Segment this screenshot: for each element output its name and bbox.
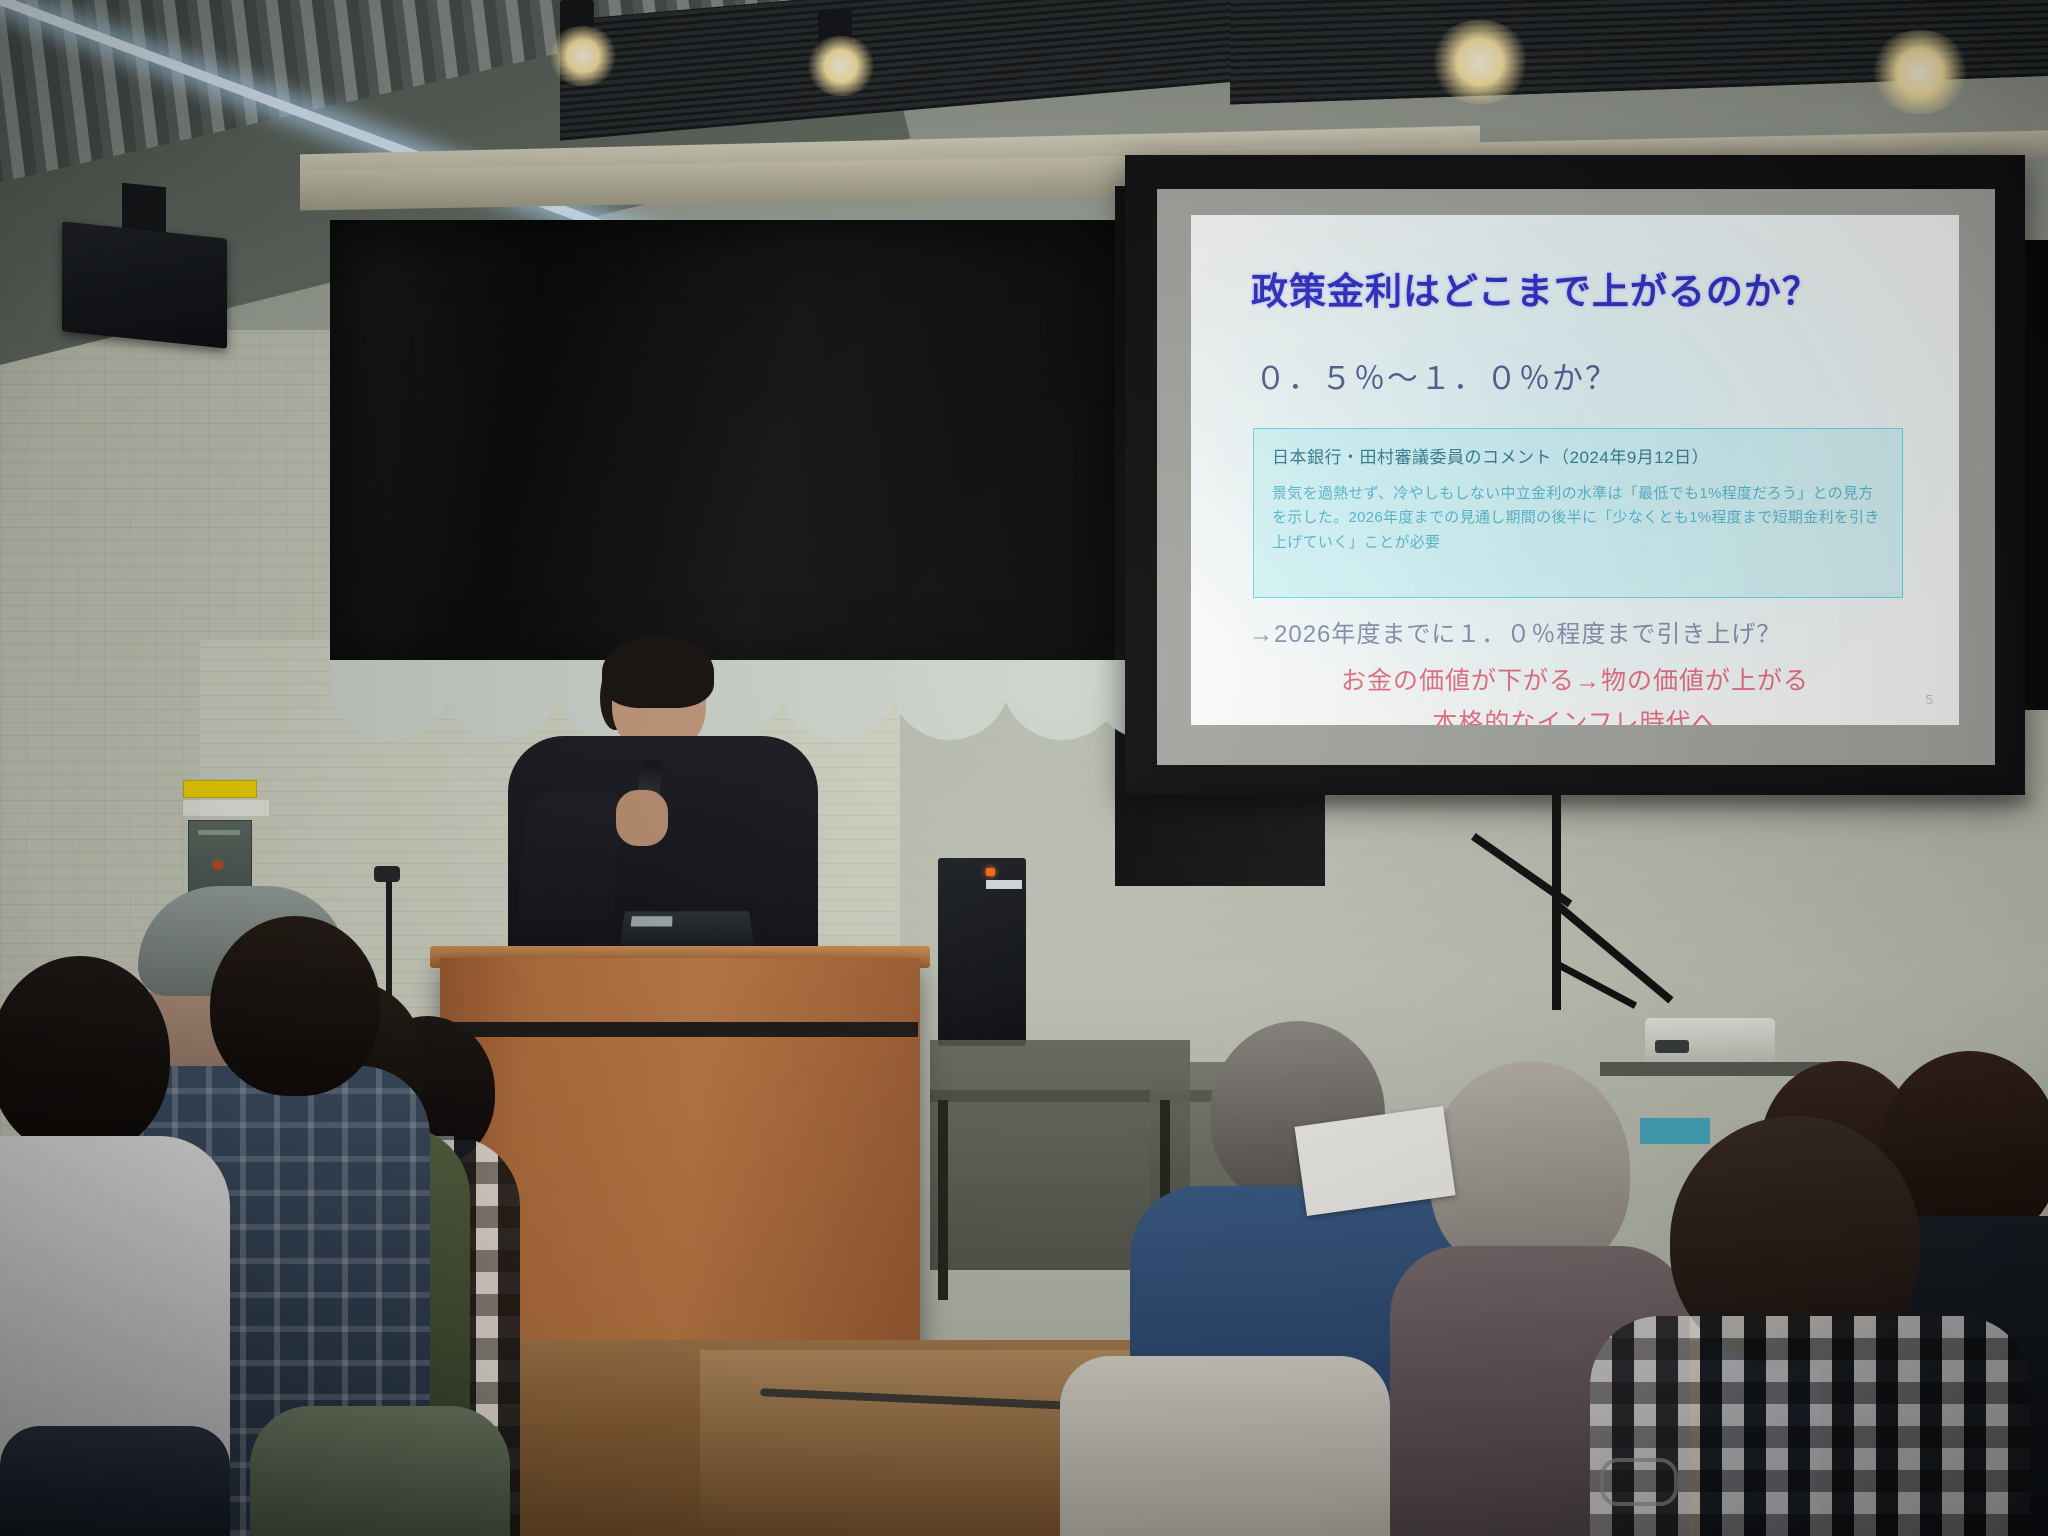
slide-comment-box: 日本銀行・田村審議委員のコメント（2024年9月12日） 景気を過熱せず、冷やし…	[1253, 428, 1903, 598]
comment-box-header: 日本銀行・田村審議委員のコメント（2024年9月12日）	[1272, 443, 1886, 468]
power-indicator-led-icon	[214, 862, 222, 868]
head	[1430, 1061, 1630, 1276]
screen-border: 政策金利はどこまで上がるのか？ ０．５％〜１．０％か？ 日本銀行・田村審議委員の…	[1157, 189, 1995, 765]
slide-content: 政策金利はどこまで上がるのか？ ０．５％〜１．０％か？ 日本銀行・田村審議委員の…	[1191, 215, 1959, 725]
microphone-stand-head	[374, 866, 400, 882]
audience-person-foreground-bag	[250, 1406, 510, 1536]
downlight-4	[1870, 30, 1970, 114]
projection-screen: 政策金利はどこまで上がるのか？ ０．５％〜１．０％か？ 日本銀行・田村審議委員の…	[1125, 155, 2025, 795]
audience-person-light-top	[1060, 1356, 1390, 1536]
slide-page-number: 5	[1926, 692, 1933, 707]
teal-equipment-case	[1640, 1118, 1710, 1144]
downlight-3	[1430, 20, 1530, 104]
audience-chair-back	[0, 1426, 230, 1536]
slide-conclusion-arrow: →2026年度までに１．０％程度まで引き上げ？	[1249, 614, 1925, 649]
wall-loudspeaker	[62, 221, 227, 348]
warning-sign	[183, 780, 257, 798]
eyeglasses-icon	[1600, 1458, 1678, 1506]
head	[210, 916, 380, 1096]
slide-emphasis-line-2: 本格的なインフレ時代へ	[1259, 703, 1891, 725]
amplifier-face-strip	[986, 880, 1022, 889]
slide-emphasis-line-1: お金の価値が下がる→物の価値が上がる	[1259, 661, 1891, 697]
speaker-hand	[616, 790, 668, 846]
stage-curtain	[330, 220, 1130, 680]
laptop-screen-glow	[631, 916, 673, 926]
cart-leg-1	[938, 1100, 948, 1300]
control-panel-label	[198, 830, 240, 835]
screen-shadow	[1120, 790, 2030, 806]
warning-sign-text-plate	[183, 800, 269, 816]
slide-subtitle: ０．５％〜１．０％か？	[1255, 353, 1925, 398]
slide-title: 政策金利はどこまで上がるのか？	[1251, 261, 1925, 315]
spotlight-glow-2	[806, 36, 876, 96]
amplifier-led-icon	[986, 868, 995, 876]
projector-lens-icon	[1655, 1040, 1689, 1053]
screen-surface: 政策金利はどこまで上がるのか？ ０．５％〜１．０％か？ 日本銀行・田村審議委員の…	[1191, 215, 1959, 725]
podium-trim-upper	[442, 1022, 918, 1037]
head	[0, 956, 170, 1156]
scalloped-valance	[330, 660, 1160, 740]
comment-box-body: 景気を過熱せず、冷やしもしない中立金利の水準は「最低でも1%程度だろう」との見方…	[1272, 482, 1886, 555]
lecture-hall-photo: 政策金利はどこまで上がるのか？ ０．５％〜１．０％か？ 日本銀行・田村審議委員の…	[0, 0, 2048, 1536]
speaker-hair	[602, 636, 714, 708]
spotlight-glow-1	[548, 26, 618, 86]
screen-tripod-center-post	[1552, 900, 1561, 1010]
